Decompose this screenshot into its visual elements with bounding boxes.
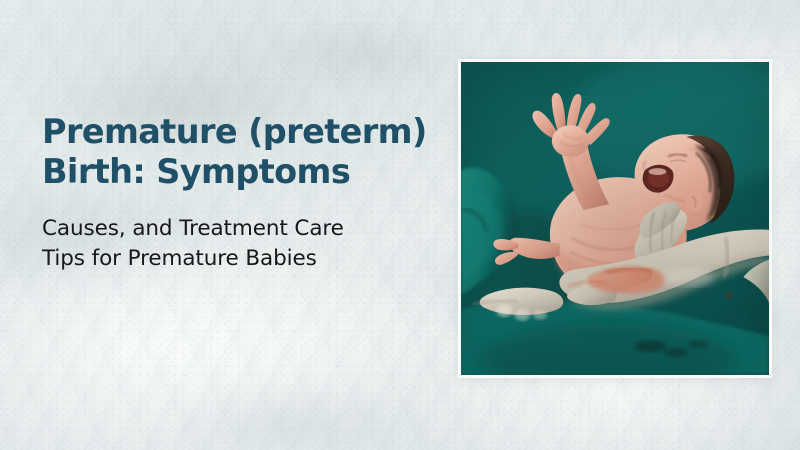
newborn-baby-photo — [461, 62, 769, 375]
banner-text-block: Premature (preterm) Birth: Symptoms Caus… — [42, 112, 442, 275]
banner-subheadline: Causes, and Treatment Care Tips for Prem… — [42, 214, 442, 274]
banner-photo-frame — [459, 60, 771, 377]
newborn-baby-illustration — [461, 62, 769, 375]
banner-headline: Premature (preterm) Birth: Symptoms — [42, 112, 442, 192]
article-banner: Premature (preterm) Birth: Symptoms Caus… — [0, 0, 800, 450]
